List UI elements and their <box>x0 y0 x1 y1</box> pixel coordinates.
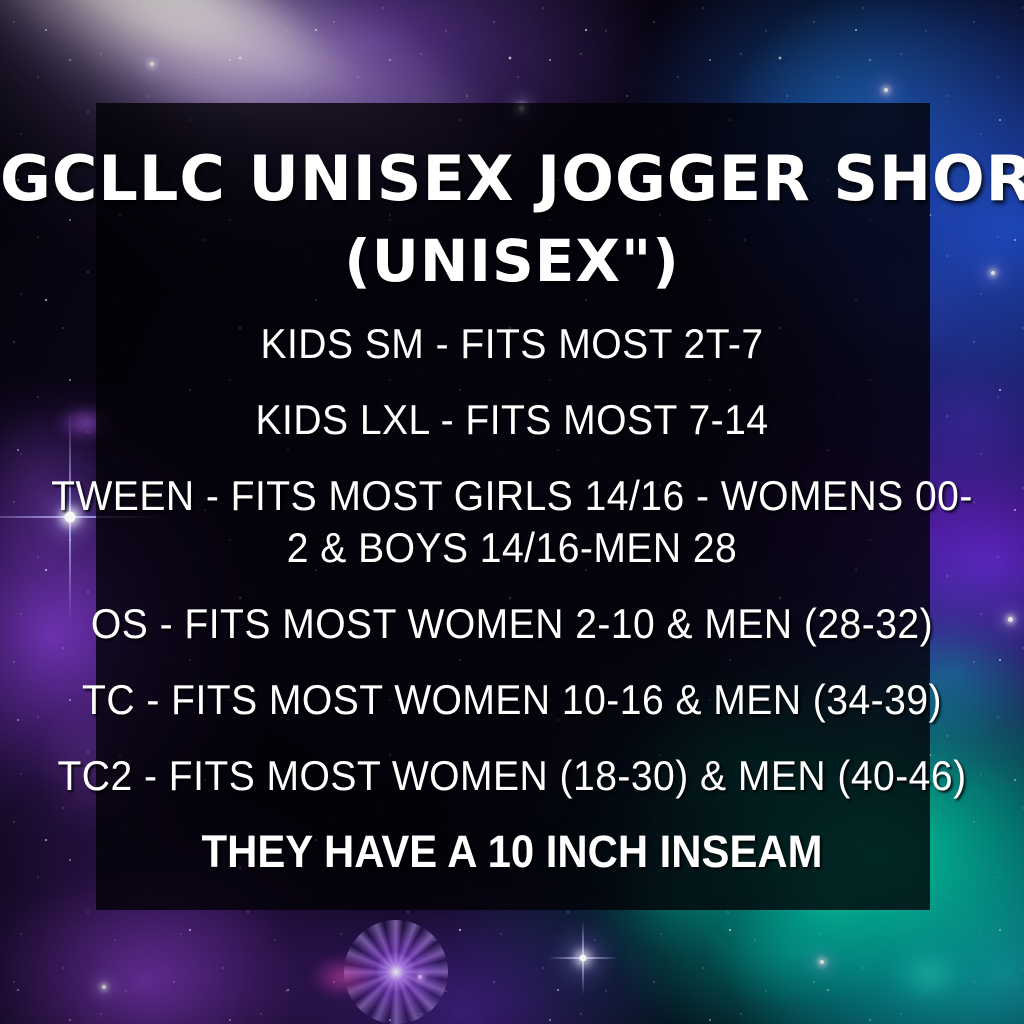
size-line-kids-sm: KIDS SM - FITS MOST 2T-7 <box>47 318 977 370</box>
inseam-note: THEY HAVE A 10 INCH INSEAM <box>47 826 977 878</box>
size-line-kids-lxl: KIDS LXL - FITS MOST 7-14 <box>47 394 977 446</box>
size-line-tc2: TC2 - FITS MOST WOMEN (18-30) & MEN (40-… <box>47 750 977 802</box>
size-line-tc: TC - FITS MOST WOMEN 10-16 & MEN (34-39) <box>47 674 977 726</box>
size-line-os: OS - FITS MOST WOMEN 2-10 & MEN (28-32) <box>47 598 977 650</box>
galaxy-size-chart-graphic: GCLLC UNISEX JOGGER SHORTS (UNISEX") KID… <box>0 0 1024 1024</box>
page-title: GCLLC UNISEX JOGGER SHORTS <box>0 140 1024 218</box>
size-line-tween: TWEEN - FITS MOST GIRLS 14/16 - WOMENS 0… <box>47 470 977 574</box>
page-subtitle: (UNISEX") <box>344 225 680 297</box>
size-chart-list: KIDS SM - FITS MOST 2T-7 KIDS LXL - FITS… <box>12 318 1012 878</box>
